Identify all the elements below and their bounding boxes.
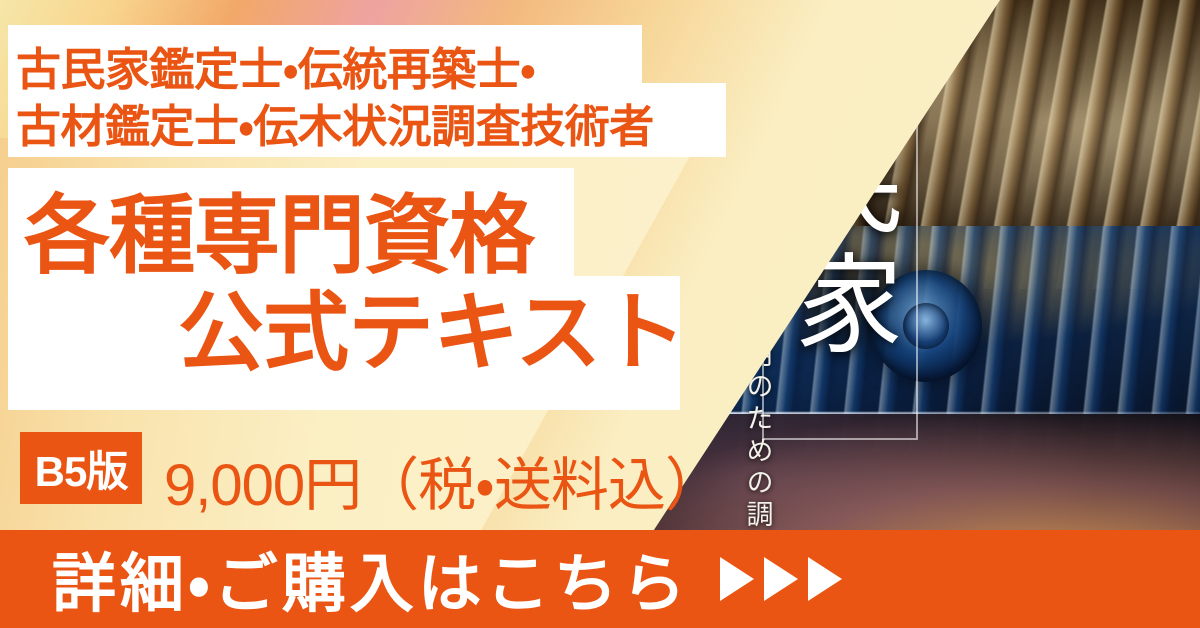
chevron-right-icon <box>720 557 754 601</box>
cta-arrow-group <box>720 557 842 601</box>
cta-label: 詳細・ご購入はこちら <box>52 533 690 625</box>
promo-banner: 伝統構法 古民家活用のための調査と再生の 古民家 古民家鑑定士・伝統再築士・ 古… <box>0 0 1200 628</box>
format-badge: B5版 <box>20 432 142 504</box>
headline-line-1: 各種専門資格 <box>24 193 534 279</box>
qualification-line-2: 古材鑑定士・伝木状況調査技術者 <box>16 90 654 155</box>
price-text: 9,000円（税・送料込） <box>164 438 722 522</box>
qualification-line-1: 古民家鑑定士・伝統再築士・ <box>16 33 535 98</box>
chevron-right-icon <box>808 557 842 601</box>
chevron-right-icon <box>764 557 798 601</box>
headline-line-2: 公式テキスト <box>178 290 685 376</box>
cta-button-bar[interactable]: 詳細・ご購入はこちら <box>0 530 1200 628</box>
